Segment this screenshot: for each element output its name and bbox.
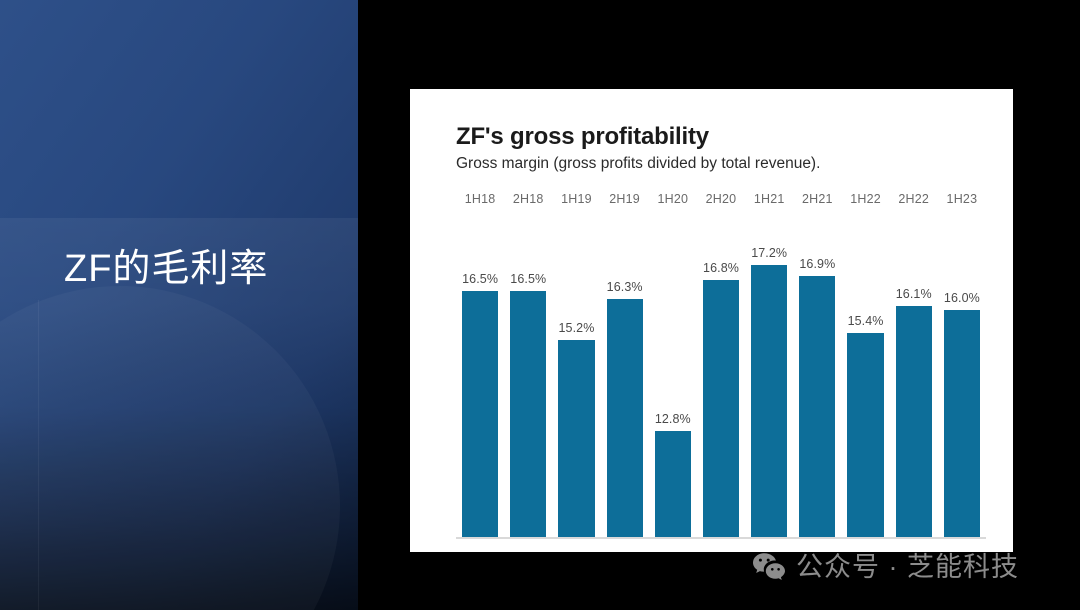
- category-label-2h20: 2H20: [697, 192, 745, 206]
- bar-group[interactable]: 16.8%: [697, 214, 745, 537]
- bar-group[interactable]: 16.5%: [456, 214, 504, 537]
- bar-1h21[interactable]: [751, 265, 787, 537]
- bar-2h22[interactable]: [896, 306, 932, 537]
- bar-group[interactable]: 16.5%: [504, 214, 552, 537]
- bar-group[interactable]: 12.8%: [649, 214, 697, 537]
- bar-1h22[interactable]: [847, 333, 883, 537]
- slide-canvas: ZF的毛利率 ZF's gross profitability Gross ma…: [0, 0, 1080, 610]
- category-axis-labels: 1H182H181H192H191H202H201H212H211H222H22…: [456, 192, 986, 216]
- watermark-text: 公众号 · 芝能科技: [796, 552, 1019, 582]
- bar-1h23[interactable]: [944, 310, 980, 537]
- bar-value-label: 16.5%: [504, 272, 552, 286]
- category-label-2h22: 2H22: [890, 192, 938, 206]
- bar-2h18[interactable]: [510, 291, 546, 537]
- bar-group[interactable]: 17.2%: [745, 214, 793, 537]
- bar-2h21[interactable]: [799, 276, 835, 537]
- bar-value-label: 12.8%: [649, 412, 697, 426]
- baseline-axis: [456, 537, 986, 539]
- category-label-2h21: 2H21: [793, 192, 841, 206]
- category-label-1h23: 1H23: [938, 192, 986, 206]
- bar-2h20[interactable]: [703, 280, 739, 537]
- bar-value-label: 15.4%: [841, 314, 889, 328]
- bar-group[interactable]: 16.1%: [890, 214, 938, 537]
- category-label-1h19: 1H19: [552, 192, 600, 206]
- category-label-1h18: 1H18: [456, 192, 504, 206]
- bar-value-label: 16.8%: [697, 261, 745, 275]
- title-panel: ZF的毛利率: [0, 0, 358, 610]
- bar-group[interactable]: 16.0%: [938, 214, 986, 537]
- bar-value-label: 16.5%: [456, 272, 504, 286]
- category-label-2h19: 2H19: [601, 192, 649, 206]
- bar-1h20[interactable]: [655, 431, 691, 537]
- category-label-2h18: 2H18: [504, 192, 552, 206]
- chart-card: ZF's gross profitability Gross margin (g…: [410, 89, 1013, 552]
- slide-title: ZF的毛利率: [64, 246, 344, 292]
- bar-value-label: 16.9%: [793, 257, 841, 271]
- bar-1h18[interactable]: [462, 291, 498, 537]
- bar-value-label: 17.2%: [745, 246, 793, 260]
- bars-area: 16.5%16.5%15.2%16.3%12.8%16.8%17.2%16.9%…: [456, 216, 986, 539]
- bar-group[interactable]: 15.2%: [552, 214, 600, 537]
- bar-value-label: 16.0%: [938, 291, 986, 305]
- chart-subtitle: Gross margin (gross profits divided by t…: [456, 155, 820, 173]
- bar-value-label: 16.3%: [601, 280, 649, 294]
- bar-value-label: 15.2%: [552, 321, 600, 335]
- wechat-icon: [752, 552, 786, 582]
- category-label-1h21: 1H21: [745, 192, 793, 206]
- bar-1h19[interactable]: [558, 340, 594, 537]
- bar-chart-plot: 1H182H181H192H191H202H201H212H211H222H22…: [456, 192, 986, 539]
- bar-group[interactable]: 16.3%: [601, 214, 649, 537]
- category-label-1h20: 1H20: [649, 192, 697, 206]
- bar-value-label: 16.1%: [890, 287, 938, 301]
- chart-title: ZF's gross profitability: [456, 123, 709, 151]
- bar-group[interactable]: 16.9%: [793, 214, 841, 537]
- watermark: 公众号 · 芝能科技: [752, 552, 1019, 582]
- category-label-1h22: 1H22: [841, 192, 889, 206]
- bar-group[interactable]: 15.4%: [841, 214, 889, 537]
- bar-2h19[interactable]: [607, 299, 643, 537]
- panel-vertical-rule: [38, 300, 39, 610]
